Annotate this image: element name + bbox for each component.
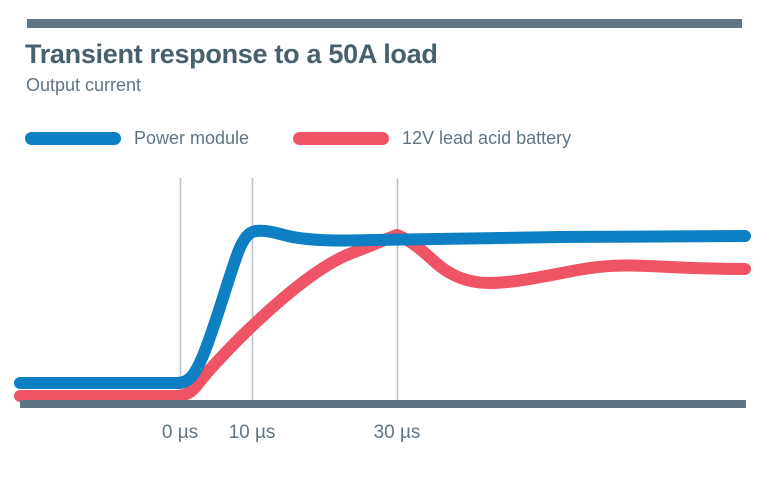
chart-plot-area [0,0,767,480]
series-line-lead-acid-battery [20,235,745,396]
chart-page: Transient response to a 50A load Output … [0,0,767,480]
series-line-power-module [20,231,745,383]
